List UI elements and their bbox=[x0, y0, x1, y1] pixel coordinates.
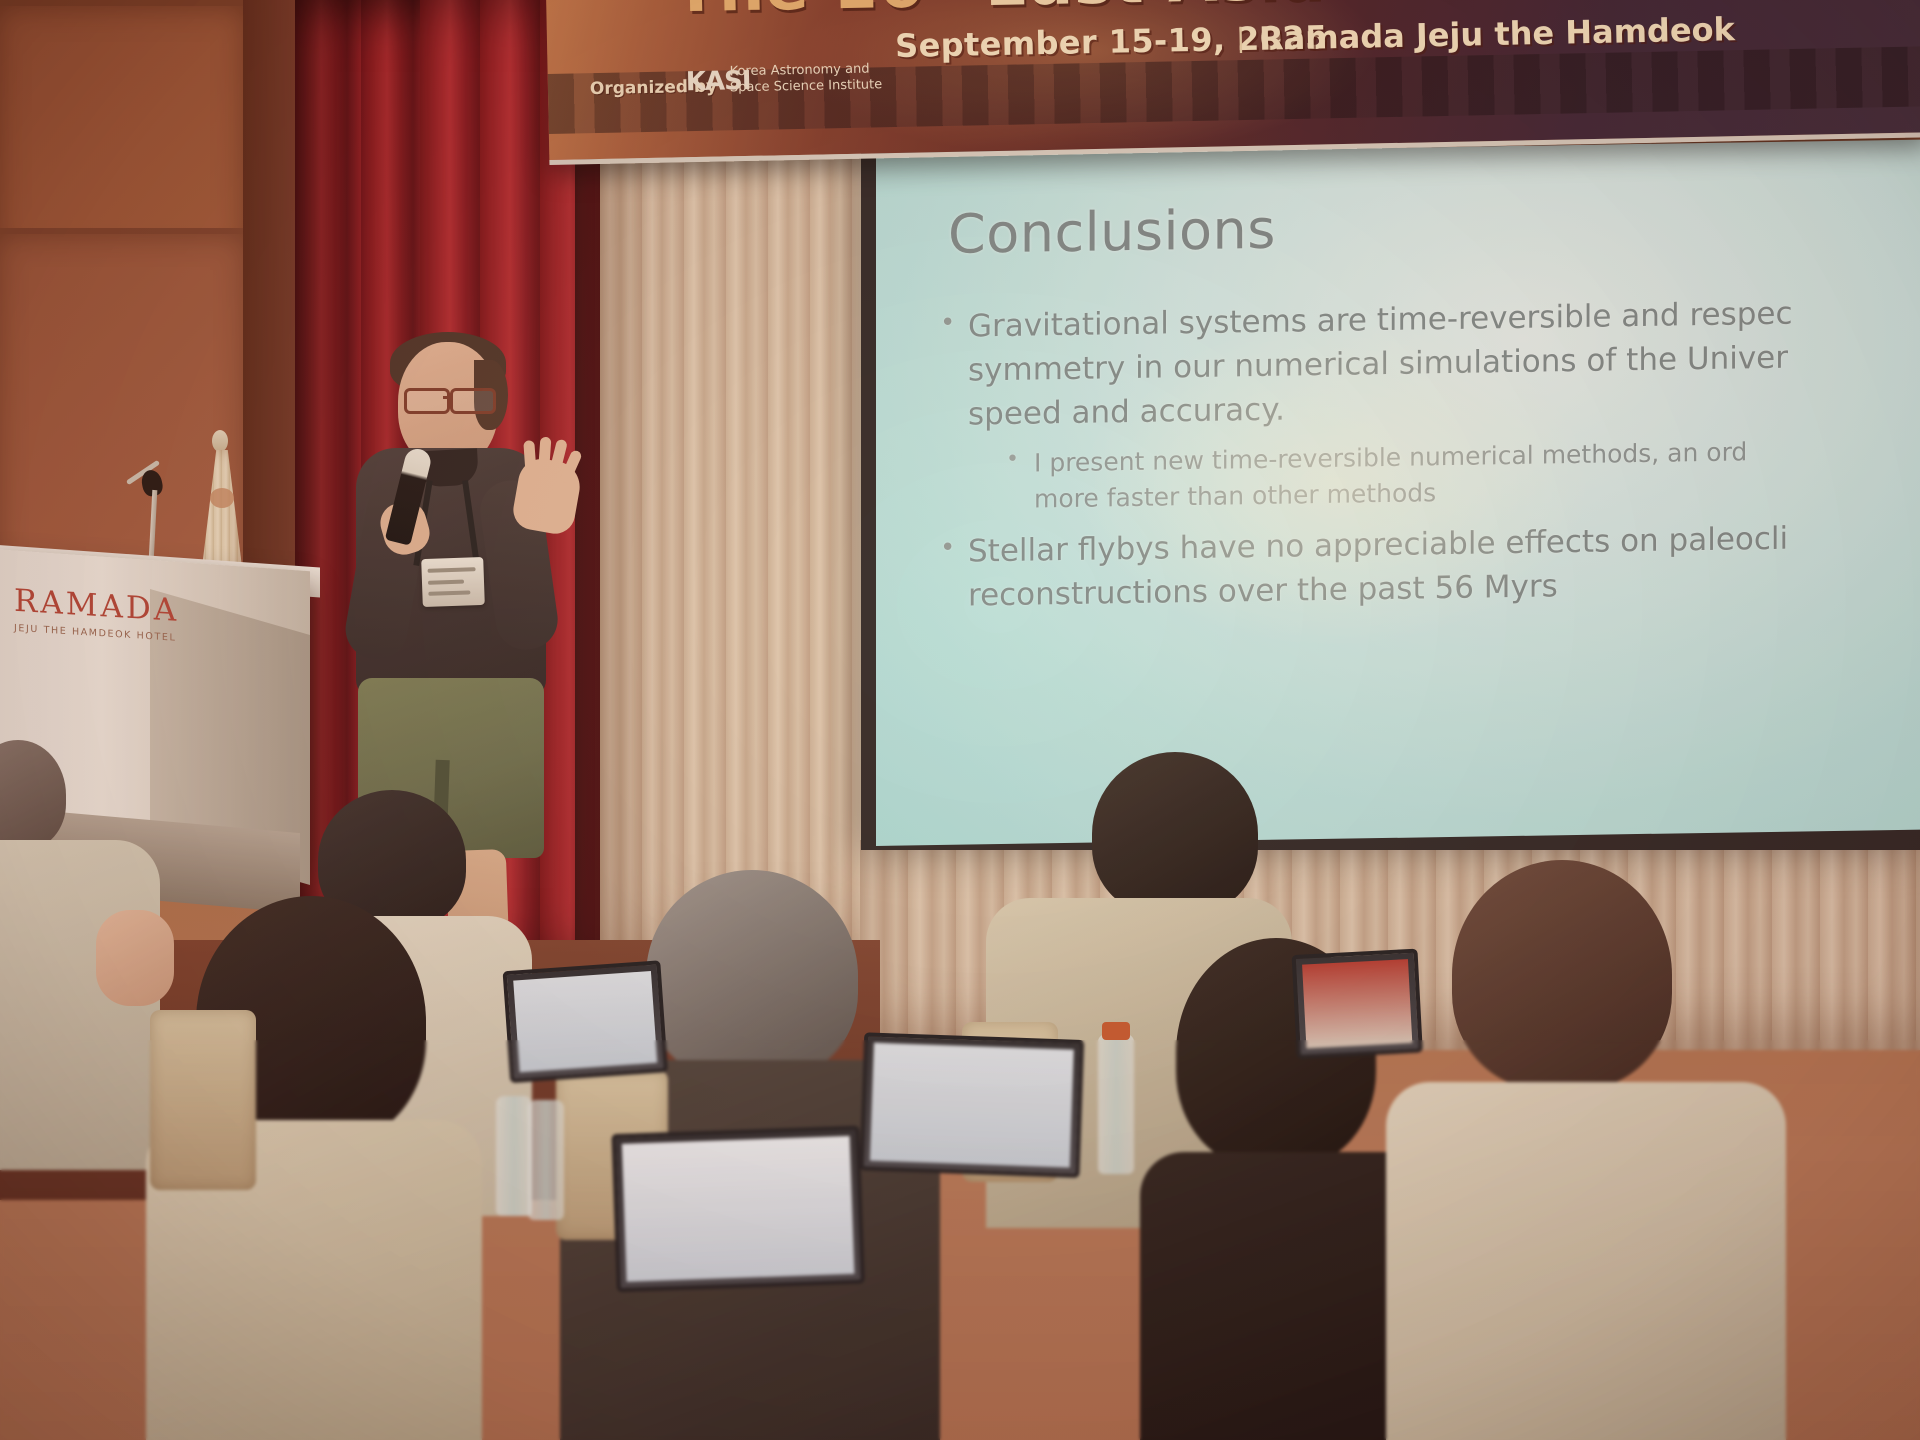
laptop-3-lid bbox=[1292, 949, 1423, 1059]
water-bottle-1[interactable] bbox=[496, 1096, 532, 1216]
slide-title: Conclusions bbox=[948, 198, 1276, 266]
laptop-2-screen bbox=[870, 1043, 1074, 1168]
audience-head-4 bbox=[646, 870, 858, 1082]
slide-bullet-2: Stellar flybys have no appreciable effec… bbox=[934, 514, 1920, 618]
slide-bullet-2-line-2: reconstructions over the past 56 Myrs bbox=[968, 568, 1558, 613]
slide-bullet-1-line-2: symmetry in our numerical simulations of… bbox=[968, 340, 1788, 389]
audience-head-7 bbox=[1452, 860, 1672, 1090]
ramada-logo: RAMADA JEJU THE HAMDEOK HOTEL bbox=[14, 583, 184, 644]
laptop-1-screen bbox=[513, 971, 657, 1072]
conference-banner: The 16th East Asia September 15-19, 2025… bbox=[546, 0, 1920, 165]
audience-head-5 bbox=[1092, 752, 1258, 916]
eyeglasses-bridge bbox=[443, 396, 452, 399]
eyeglasses-right-lens-icon bbox=[450, 388, 496, 414]
laptop-3-screen bbox=[1302, 959, 1412, 1048]
slide-bullet-1-line-3: speed and accuracy. bbox=[968, 392, 1285, 433]
slide-bullet-1: Gravitational systems are time-reversibl… bbox=[934, 289, 1920, 437]
laptop-1-lid bbox=[503, 960, 668, 1083]
slide-bullet-list: Gravitational systems are time-reversibl… bbox=[934, 289, 1920, 628]
org-name-line-2: Space Science Institute bbox=[730, 78, 883, 96]
laptop-2[interactable] bbox=[860, 1032, 1076, 1169]
slide-bullet-2-line-1: Stellar flybys have no appreciable effec… bbox=[968, 521, 1788, 570]
water-bottle-3-cap bbox=[1102, 1022, 1130, 1040]
laptop-2-lid bbox=[860, 1032, 1085, 1178]
water-bottle-2[interactable] bbox=[528, 1100, 564, 1220]
conference-name-badge bbox=[421, 557, 485, 607]
laptop-3[interactable] bbox=[1292, 949, 1415, 1051]
chair-1 bbox=[150, 1010, 256, 1190]
org-name-line-1: Korea Astronomy and bbox=[729, 62, 869, 80]
banner-separator: | bbox=[1237, 22, 1245, 54]
slide-sub-bullet-1: I present new time-reversible numerical … bbox=[934, 431, 1920, 518]
laptop-4[interactable] bbox=[611, 1126, 856, 1284]
audience-body-7 bbox=[1386, 1082, 1786, 1440]
water-bottle-3[interactable] bbox=[1098, 1034, 1134, 1174]
slide-sub-bullet-1-line-1: I present new time-reversible numerical … bbox=[1034, 437, 1747, 477]
badge-line-1 bbox=[428, 567, 476, 573]
conference-room-photo: Conclusions Gravitational systems are ti… bbox=[0, 0, 1920, 1440]
projection-screen: Conclusions Gravitational systems are ti… bbox=[876, 140, 1920, 846]
presentation-slide: Conclusions Gravitational systems are ti… bbox=[876, 140, 1920, 846]
badge-line-2 bbox=[428, 580, 464, 585]
finger-1 bbox=[523, 440, 536, 475]
badge-line-3 bbox=[428, 590, 470, 595]
laptop-4-screen bbox=[622, 1136, 855, 1282]
audience-hand-clapping bbox=[96, 910, 174, 1006]
slide-sub-bullet-1-line-2: more faster than other methods bbox=[1034, 478, 1436, 513]
banner-organization-name: Korea Astronomy and Space Science Instit… bbox=[729, 60, 930, 97]
tassel-knob bbox=[212, 430, 228, 452]
slide-bullet-1-line-1: Gravitational systems are time-reversibl… bbox=[968, 296, 1793, 345]
laptop-1[interactable] bbox=[503, 961, 660, 1075]
wall-panel-upper bbox=[0, 0, 252, 262]
eyeglasses-left-lens-icon bbox=[404, 388, 450, 414]
tassel-knot bbox=[210, 488, 234, 508]
laptop-4-lid bbox=[611, 1126, 864, 1293]
